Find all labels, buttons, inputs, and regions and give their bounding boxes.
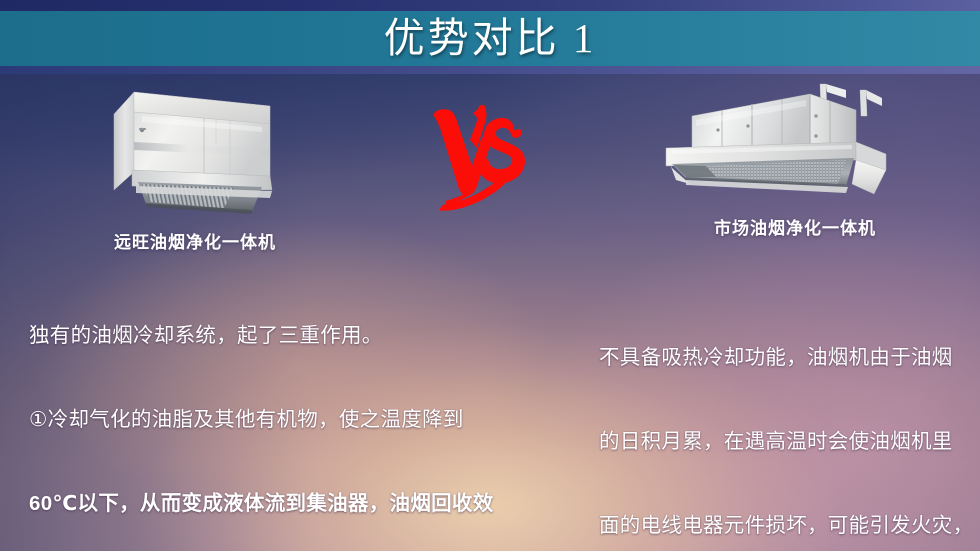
product-image-right xyxy=(660,80,894,204)
text-line: 的日积月累，在遇高温时会使油烟机里 xyxy=(599,428,973,456)
right-description-text: 不具备吸热冷却功能，油烟机由于油烟 的日积月累，在遇高温时会使油烟机里 面的电线… xyxy=(599,288,973,551)
page-title: 优势对比 1 xyxy=(0,12,980,64)
product-caption-right: 市场油烟净化一体机 xyxy=(600,214,980,239)
vs-icon xyxy=(432,104,532,212)
text-line: 不具备吸热冷却功能，油烟机由于油烟 xyxy=(599,344,973,372)
text-line: 面的电线电器元件损坏，可能引发火灾， xyxy=(599,512,973,540)
text-line: ①冷却气化的油脂及其他有机物，使之温度降到 xyxy=(29,406,494,434)
left-description-text: 独有的油烟冷却系统，起了三重作用。 ①冷却气化的油脂及其他有机物，使之温度降到 … xyxy=(29,266,494,551)
title-bar-bottom-strip xyxy=(0,66,980,74)
range-hood-right-icon xyxy=(660,80,894,204)
range-hood-left-icon xyxy=(112,86,294,218)
product-image-left xyxy=(112,86,294,218)
title-bar-top-strip xyxy=(0,0,980,11)
title-bar: 优势对比 1 xyxy=(0,0,980,72)
slide-canvas: 优势对比 1 xyxy=(0,0,980,551)
text-line: 60℃以下，从而变成液体流到集油器，油烟回收效 xyxy=(29,490,494,518)
text-line: 独有的油烟冷却系统，起了三重作用。 xyxy=(29,322,494,350)
product-caption-left: 远旺油烟净化一体机 xyxy=(0,228,390,253)
